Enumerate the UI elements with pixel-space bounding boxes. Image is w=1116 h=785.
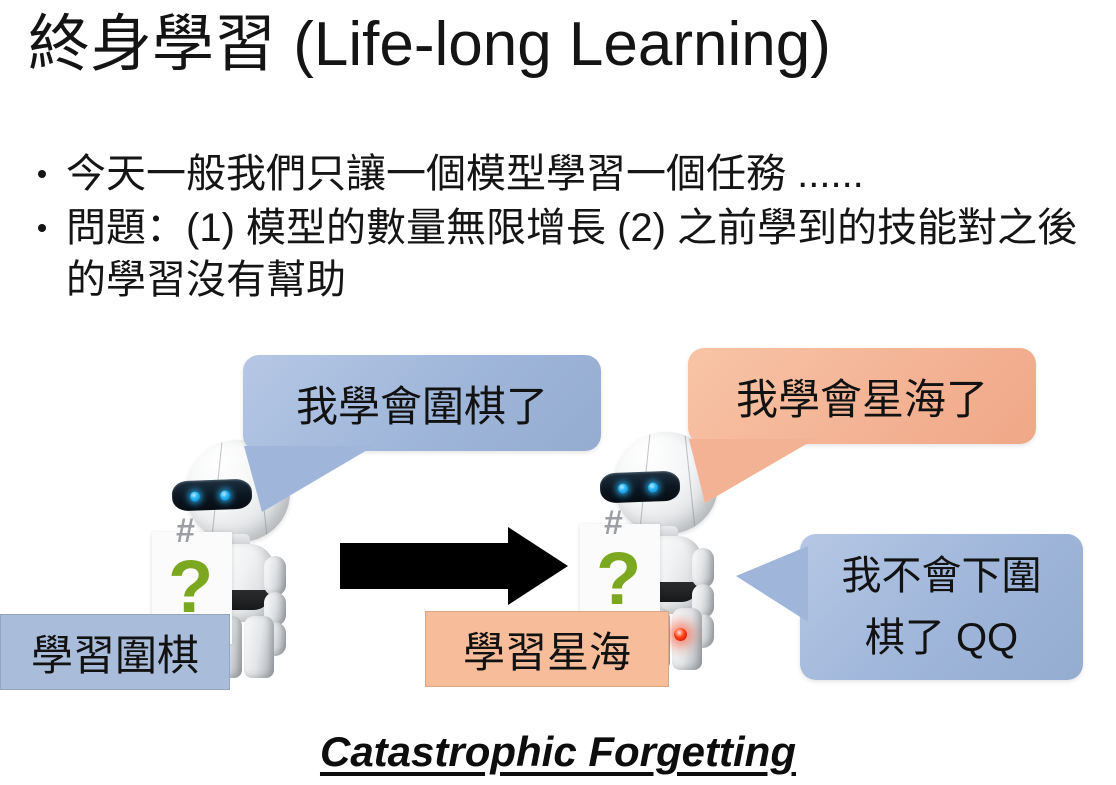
robot-visor <box>600 471 681 504</box>
slide-canvas: 終身學習 (Life-long Learning) 今天一般我們只讓一個模型學習… <box>0 0 1116 785</box>
speech-bubble-learned-go-text: 我學會圍棋了 <box>282 373 562 434</box>
robot-arm-upper <box>692 548 714 588</box>
speech-bubble-forgot-go-line2: 棋了 QQ <box>851 607 1032 669</box>
robot-eye-right-icon <box>220 490 230 500</box>
robot-leg-right <box>244 616 274 678</box>
robot-eye-right-icon <box>648 482 658 492</box>
bullet-dot-icon <box>38 224 46 232</box>
transition-arrow-icon <box>340 527 568 605</box>
robot-eye-left-icon <box>190 491 200 501</box>
bullet-dot-icon <box>38 170 46 178</box>
speech-bubble-forgot-go-line1: 我不會下圍 <box>828 545 1056 607</box>
speech-bubble-forgot-go-tail <box>736 546 808 622</box>
label-learn-go: 學習圍棋 <box>0 614 230 690</box>
robot-eye-left-icon <box>618 483 628 493</box>
label-learn-starcraft-text: 學習星海 <box>463 619 631 680</box>
bullet-text-1: 今天一般我們只讓一個模型學習一個任務 ...... <box>66 152 864 196</box>
robot-visor <box>172 479 253 512</box>
speech-bubble-learned-starcraft-tail <box>689 439 815 505</box>
speech-bubble-learned-go: 我學會圍棋了 <box>243 355 601 451</box>
speech-bubble-learned-go-tail <box>244 446 374 514</box>
question-mark-icon: ? <box>596 542 641 616</box>
bullet-item-1: 今天一般我們只讓一個模型學習一個任務 ...... <box>28 148 1088 200</box>
bullet-list: 今天一般我們只讓一個模型學習一個任務 ...... 問題：(1) 模型的數量無限… <box>28 148 1088 308</box>
robot-arm-upper <box>264 556 286 596</box>
label-learn-go-text: 學習圍棋 <box>31 622 199 683</box>
question-mark-icon: ? <box>168 550 213 624</box>
speech-bubble-learned-starcraft-text: 我學會星海了 <box>722 366 1002 427</box>
speech-bubble-forgot-go: 我不會下圍 棋了 QQ <box>800 534 1083 680</box>
bullet-item-2: 問題：(1) 模型的數量無限增長 (2) 之前學到的技能對之後的學習沒有幫助 <box>28 202 1088 306</box>
red-led-indicator-icon <box>674 628 687 641</box>
bullet-text-2: 問題：(1) 模型的數量無限增長 (2) 之前學到的技能對之後的學習沒有幫助 <box>66 206 1077 302</box>
speech-bubble-learned-starcraft: 我學會星海了 <box>688 348 1036 444</box>
caption-catastrophic-forgetting: Catastrophic Forgetting <box>0 728 1116 776</box>
label-learn-starcraft: 學習星海 <box>425 611 669 687</box>
page-title: 終身學習 (Life-long Learning) <box>28 4 831 86</box>
